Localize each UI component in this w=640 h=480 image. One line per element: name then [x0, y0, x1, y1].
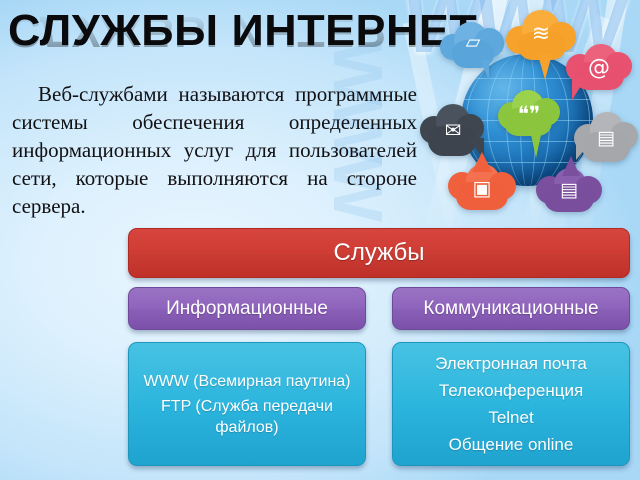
- leaf-line: WWW (Всемирная паутина): [143, 371, 350, 392]
- leaf-line: FTP (Служба передачи файлов): [139, 396, 355, 438]
- slide-canvas: WWW WWW СЛУЖБЫ ИНТЕРНЕТ СЛУЖБЫ ИНТЕРНЕТ …: [0, 0, 640, 480]
- diagram-root-box[interactable]: Службы: [128, 228, 630, 278]
- leaf-line: Электронная почта: [435, 353, 587, 374]
- diagram-branch-communication[interactable]: Коммуникационные: [392, 287, 630, 330]
- bubble-chat: ❝❞: [498, 90, 560, 140]
- bubble-shape: [498, 90, 560, 140]
- bubble-printer: ▤: [536, 166, 602, 216]
- leaf-line: Telnet: [488, 407, 533, 428]
- leaf-line: Телеконференция: [439, 380, 583, 401]
- bubble-shape: [440, 20, 506, 70]
- bubble-envelope: ✉: [420, 104, 486, 158]
- bubble-newspaper: ▤: [574, 112, 638, 164]
- leaf-line: Общение online: [449, 434, 574, 455]
- bubble-email-at: @: [566, 44, 632, 96]
- diagram-leaf-communication[interactable]: Электронная почта Телеконференция Telnet…: [392, 342, 630, 466]
- slide-title-block: СЛУЖБЫ ИНТЕРНЕТ СЛУЖБЫ ИНТЕРНЕТ: [8, 8, 438, 80]
- internet-globe-illustration: ▱ ≋ @: [418, 2, 640, 234]
- bubble-monitor: ▣: [448, 162, 516, 214]
- bubble-mobile-phone: ▱: [440, 20, 506, 70]
- diagram-branch-informational[interactable]: Информационные: [128, 287, 366, 330]
- page-title: СЛУЖБЫ ИНТЕРНЕТ: [8, 8, 447, 54]
- diagram-leaf-informational[interactable]: WWW (Всемирная паутина) FTP (Служба пере…: [128, 342, 366, 466]
- body-paragraph: Веб-службами называются программные сист…: [12, 80, 417, 220]
